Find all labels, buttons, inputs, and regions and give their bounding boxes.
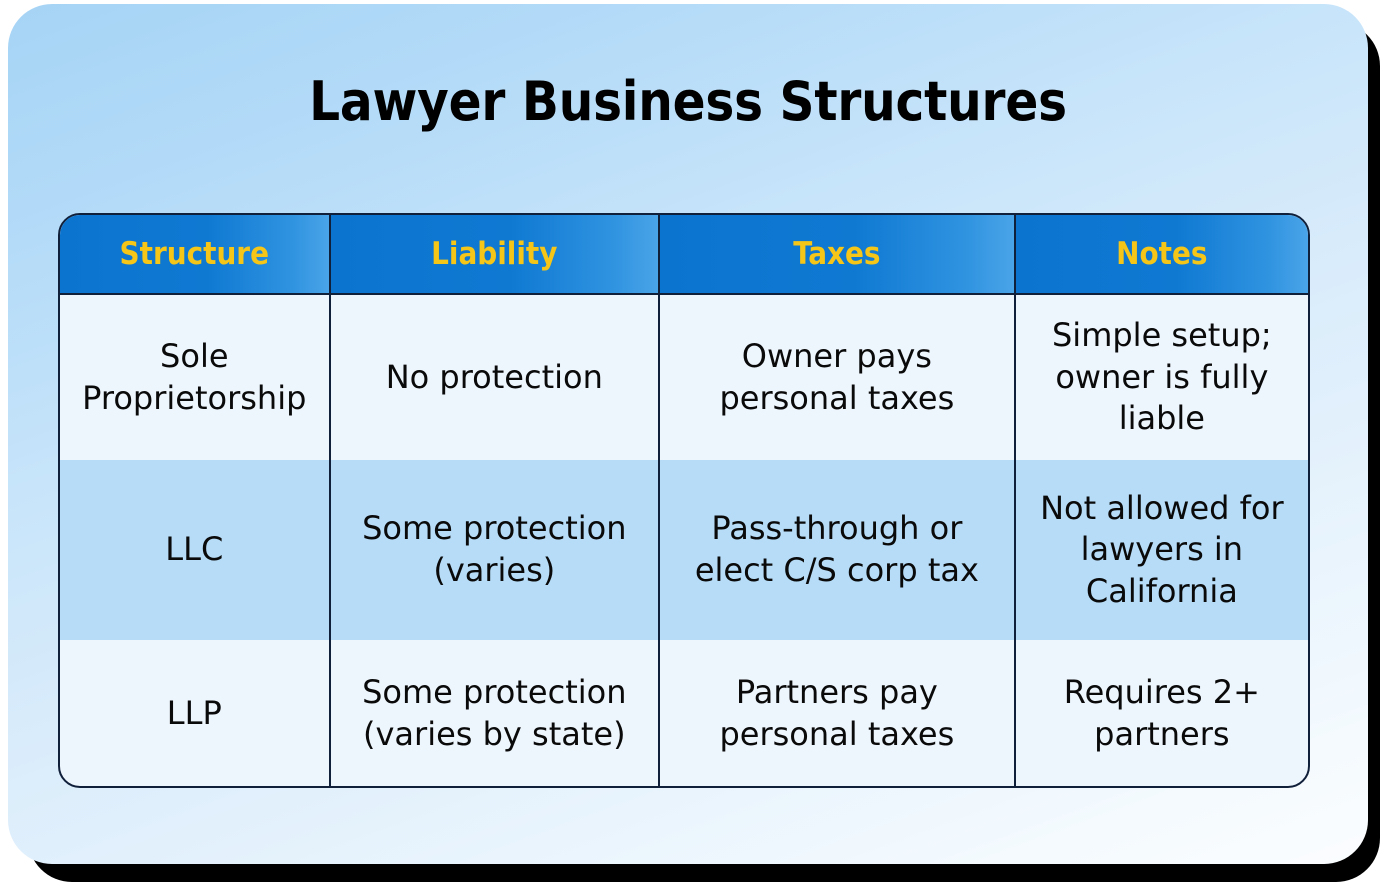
cell-liability: Some protection (varies by state) <box>330 640 659 787</box>
cell-taxes: Pass-through or elect C/S corp tax <box>659 460 1015 640</box>
column-header-structure: Structure <box>60 215 330 294</box>
cell-notes: Not allowed for lawyers in California <box>1015 460 1308 640</box>
cell-structure: LLC <box>60 460 330 640</box>
cell-liability: No protection <box>330 294 659 460</box>
page-title: Lawyer Business Structures <box>8 70 1368 133</box>
slide-canvas: Lawyer Business Structures Structure Lia… <box>0 0 1397 891</box>
cell-structure: LLP <box>60 640 330 787</box>
structures-table-container: Structure Liability Taxes Notes Sole Pro… <box>58 213 1310 788</box>
table-body: Sole Proprietorship No protection Owner … <box>60 294 1308 787</box>
table-row: LLP Some protection (varies by state) Pa… <box>60 640 1308 787</box>
column-header-taxes: Taxes <box>659 215 1015 294</box>
cell-structure: Sole Proprietorship <box>60 294 330 460</box>
content-card: Lawyer Business Structures Structure Lia… <box>8 4 1368 864</box>
table-row: LLC Some protection (varies) Pass-throug… <box>60 460 1308 640</box>
structures-table: Structure Liability Taxes Notes Sole Pro… <box>60 215 1308 787</box>
cell-notes: Requires 2+ partners <box>1015 640 1308 787</box>
table-header: Structure Liability Taxes Notes <box>60 215 1308 294</box>
column-header-liability: Liability <box>330 215 659 294</box>
table-header-row: Structure Liability Taxes Notes <box>60 215 1308 294</box>
table-row: Sole Proprietorship No protection Owner … <box>60 294 1308 460</box>
cell-notes: Simple setup; owner is fully liable <box>1015 294 1308 460</box>
column-header-notes: Notes <box>1015 215 1308 294</box>
cell-liability: Some protection (varies) <box>330 460 659 640</box>
cell-taxes: Owner pays personal taxes <box>659 294 1015 460</box>
cell-taxes: Partners pay personal taxes <box>659 640 1015 787</box>
